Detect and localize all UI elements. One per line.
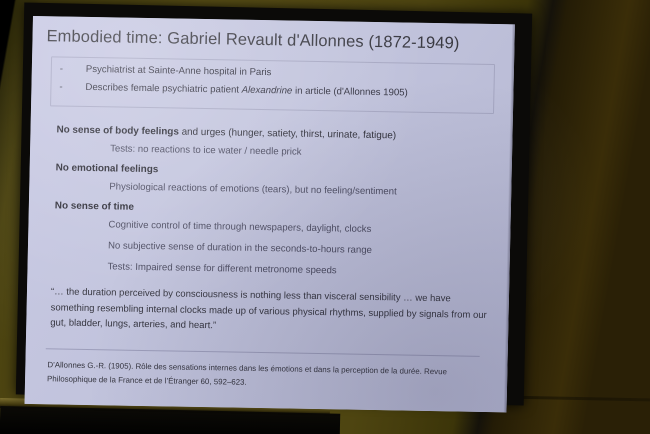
slide-surface: Embodied time: Gabriel Revault d'Allonne… [25,16,515,412]
section-2-item-1: Physiological reactions of emotions (tea… [109,181,397,197]
section-3-item-2: No subjective sense of duration in the s… [108,240,372,256]
section-heading-1-bold: No sense of body feelings [56,124,179,137]
bullet-item-2-post: in article (d'Allonnes 1905) [292,86,408,99]
projected-slide-photo: Embodied time: Gabriel Revault d'Allonne… [0,0,650,434]
bullet-dash-icon: - [60,63,63,74]
section-heading-3: No sense of time [55,200,134,212]
projected-slide: Embodied time: Gabriel Revault d'Allonne… [25,16,515,412]
section-heading-2: No emotional feelings [56,162,159,175]
section-heading-2-bold: No emotional feelings [56,162,159,175]
citation-divider [46,348,480,357]
section-3-item-3: Tests: Impaired sense for different metr… [107,261,336,276]
section-3-item-1: Cognitive control of time through newspa… [108,219,371,235]
section-heading-1-rest: and urges (hunger, satiety, thirst, urin… [179,127,396,142]
section-1-item-1: Tests: no reactions to ice water / needl… [110,143,302,157]
bullet-item-2-patient-name: Alexandrine [242,85,293,97]
bullet-dash-icon: - [59,81,62,92]
section-heading-1: No sense of body feelings and urges (hun… [56,124,396,141]
section-heading-3-bold: No sense of time [55,200,134,212]
slide-quotation: “… the duration perceived by consciousne… [50,284,491,338]
slide-citation: D’Allonnes G.-R. (1905). Rôle des sensat… [47,358,486,393]
slide-title: Embodied time: Gabriel Revault d'Allonne… [46,27,506,54]
